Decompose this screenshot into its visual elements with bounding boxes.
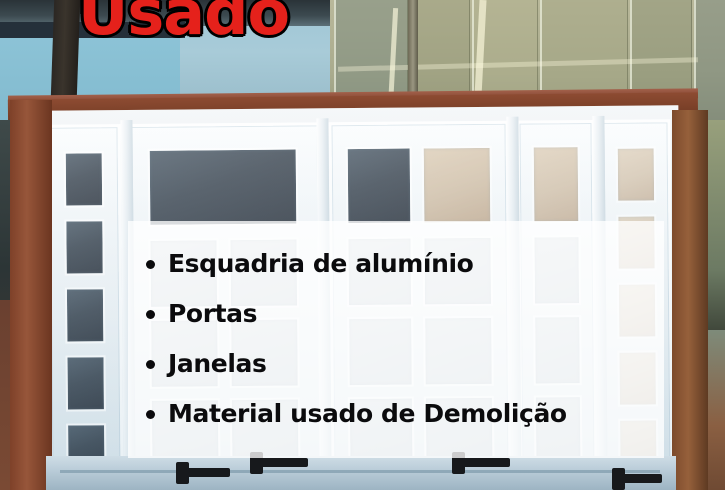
bottom-sill: [46, 456, 676, 490]
bullet-icon: [146, 360, 155, 369]
glass-pane: [532, 145, 581, 223]
feature-list: Esquadria de alumínio Portas Janelas Mat…: [128, 221, 664, 458]
list-item-label: Portas: [168, 299, 257, 328]
rusty-frame-left-post: [10, 100, 52, 490]
headline-container: Usado: [0, 0, 725, 44]
list-item-label: Janelas: [168, 349, 266, 378]
list-item: Material usado de Demolição: [168, 389, 664, 439]
rusty-frame-right-post: [672, 110, 708, 490]
glass-pane: [64, 151, 104, 207]
door-handle: [186, 468, 230, 477]
list-item: Esquadria de alumínio: [168, 239, 664, 289]
door-handle: [622, 474, 662, 483]
glass-pane: [346, 147, 413, 226]
glass-pane: [148, 148, 299, 227]
door-handle: [260, 458, 308, 467]
glass-pane: [65, 287, 105, 343]
side-light-left: [46, 124, 123, 485]
bullet-list-overlay: Esquadria de alumínio Portas Janelas Mat…: [128, 221, 664, 458]
door-handle: [462, 458, 510, 467]
list-item-label: Esquadria de alumínio: [168, 249, 473, 278]
list-item: Portas: [168, 289, 664, 339]
glass-pane: [616, 146, 656, 202]
sill-detail-line: [60, 470, 660, 473]
list-item-label: Material usado de Demolição: [168, 399, 567, 428]
bullet-icon: [146, 410, 155, 419]
list-item: Janelas: [168, 339, 664, 389]
screenshot-root: i Usado Esquadria de alumínio Portas Jan…: [0, 0, 725, 490]
bullet-icon: [146, 260, 155, 269]
headline-text: Usado: [78, 0, 289, 44]
glass-pane: [64, 219, 104, 275]
bullet-icon: [146, 310, 155, 319]
glass-pane: [65, 355, 105, 411]
glass-pane: [422, 146, 493, 225]
